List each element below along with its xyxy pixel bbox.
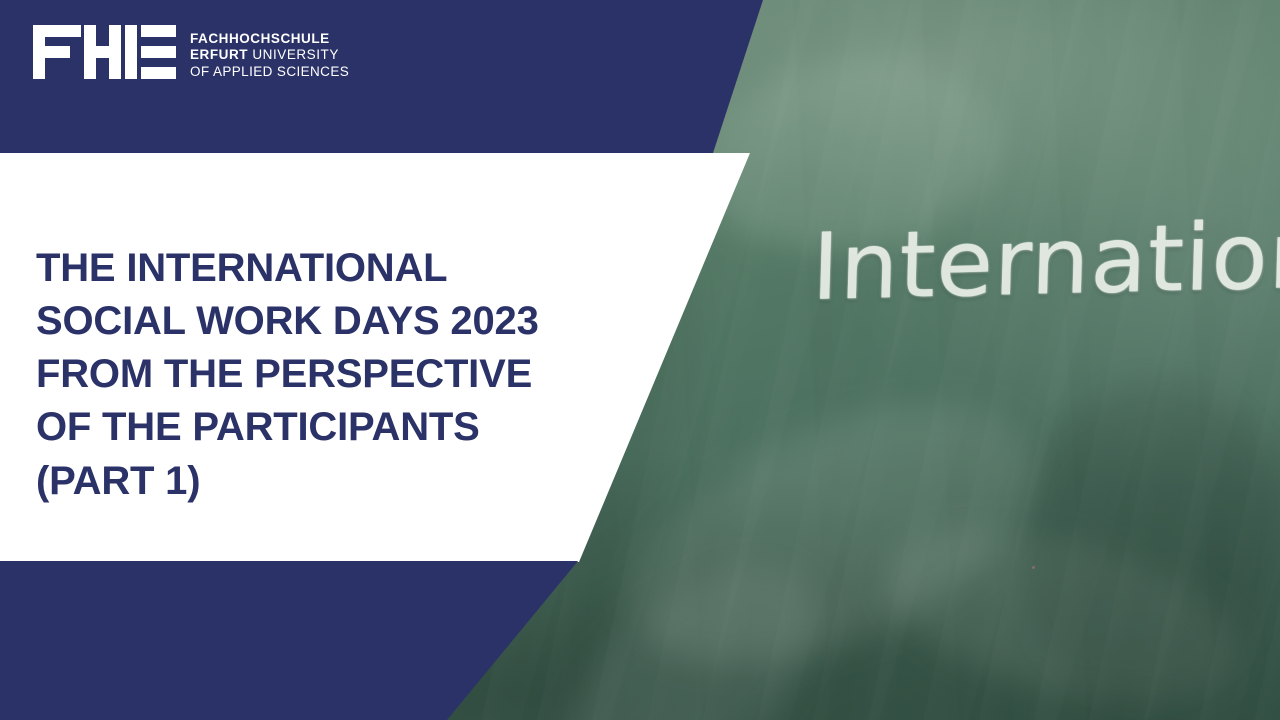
title-line-2: SOCIAL WORK DAYS 2023 xyxy=(36,295,696,348)
fhe-logo-mark-icon xyxy=(33,25,176,84)
title-line-5: (PART 1) xyxy=(36,455,696,508)
chalkboard-handwriting: International xyxy=(811,211,1253,314)
title-line-3: FROM THE PERSPECTIVE xyxy=(36,348,696,401)
chalkboard-speck xyxy=(1032,566,1035,569)
title-card-slide: International xyxy=(0,0,1280,720)
fhe-logo: FACHHOCHSCHULE ERFURT UNIVERSITY OF APPL… xyxy=(33,25,349,84)
fhe-logo-wordmark: FACHHOCHSCHULE ERFURT UNIVERSITY OF APPL… xyxy=(190,31,349,79)
fhe-logo-line-3: OF APPLIED SCIENCES xyxy=(190,65,349,79)
title-line-4: OF THE PARTICIPANTS xyxy=(36,401,696,454)
title-line-1: THE INTERNATIONAL xyxy=(36,242,696,295)
page-title: THE INTERNATIONAL SOCIAL WORK DAYS 2023 … xyxy=(36,242,696,508)
fhe-logo-line-2: ERFURT UNIVERSITY xyxy=(190,48,349,62)
fhe-logo-line-1: FACHHOCHSCHULE xyxy=(190,32,349,46)
